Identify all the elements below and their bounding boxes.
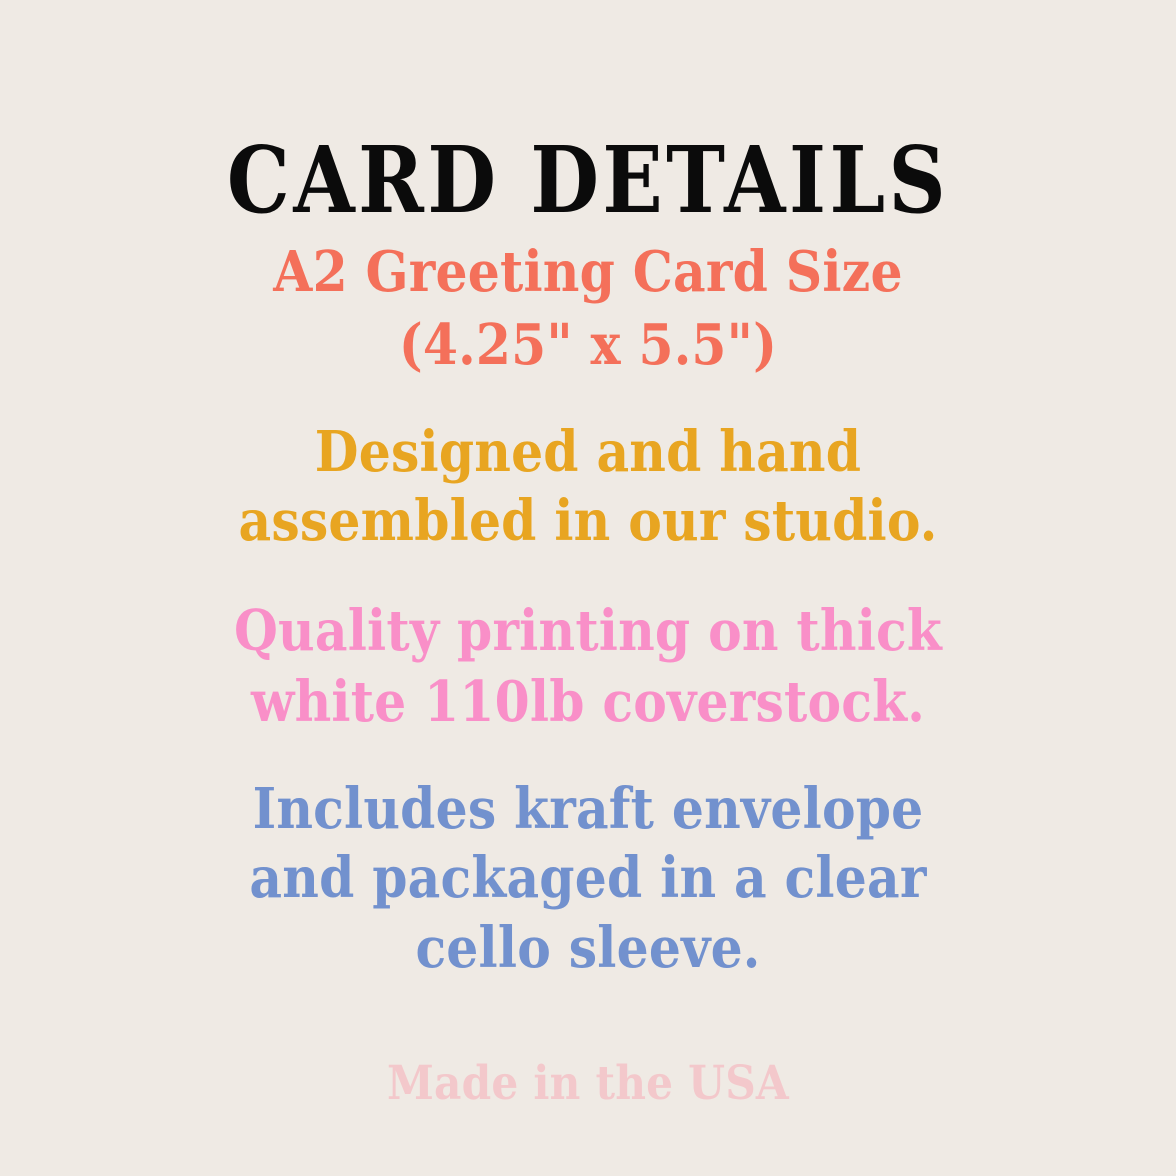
detail-block-card-size: A2 Greeting Card Size (4.25" x 5.5") [59,236,1117,382]
detail-line: assembled in our studio. [59,487,1117,556]
detail-block-made-in-usa: Made in the USA [59,1056,1117,1112]
detail-line: A2 Greeting Card Size [59,236,1117,309]
detail-line: Quality printing on thick [59,596,1117,667]
detail-line: cello sleeve. [59,914,1117,983]
detail-line: Designed and hand [59,418,1117,487]
detail-line: Includes kraft envelope [59,775,1117,844]
detail-line: white 110lb coverstock. [59,667,1117,738]
detail-line: Made in the USA [59,1056,1117,1112]
detail-block-design-and-assembly: Designed and hand assembled in our studi… [59,418,1117,557]
card-details-graphic: CARD DETAILS A2 Greeting Card Size (4.25… [0,0,1176,1176]
detail-block-printing-and-paper: Quality printing on thick white 110lb co… [59,596,1117,737]
page-title: CARD DETAILS [82,134,1093,228]
detail-line: (4.25" x 5.5") [59,309,1117,382]
detail-block-envelope-and-packaging: Includes kraft envelope and packaged in … [59,775,1117,983]
detail-line: and packaged in a clear [59,844,1117,913]
